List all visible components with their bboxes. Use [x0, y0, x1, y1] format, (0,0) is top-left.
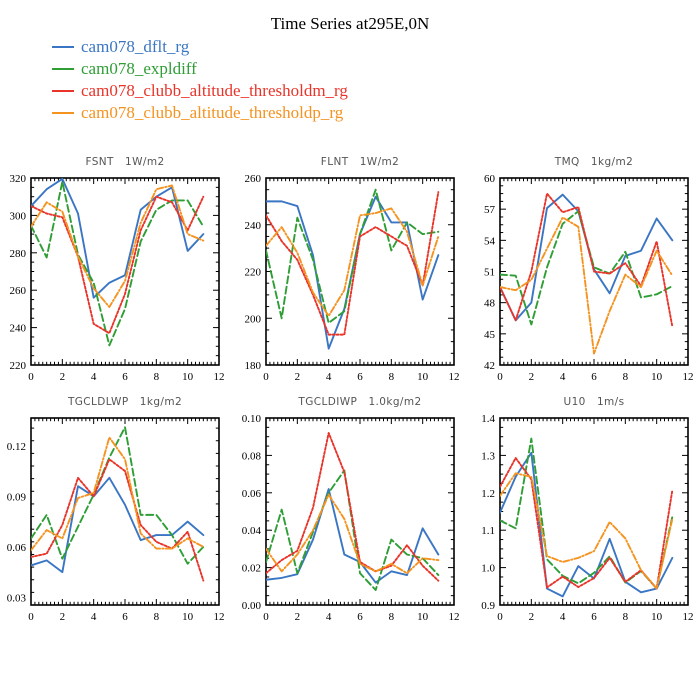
series-line: [31, 459, 203, 580]
x-tick-label: 2: [60, 371, 66, 383]
y-tick-label: 1.2: [481, 488, 495, 500]
x-tick-label: 6: [122, 611, 128, 623]
y-tick-label: 1.3: [481, 450, 495, 462]
x-tick-label: 10: [651, 371, 663, 383]
x-tick-label: 2: [529, 371, 535, 383]
y-tick-label: 45: [484, 329, 496, 341]
x-tick-label: 2: [60, 611, 66, 623]
y-tick-label: 320: [10, 173, 27, 185]
x-tick-label: 0: [497, 611, 503, 623]
chart-panel-tgcldlwp: 0246810120.030.060.090.12: [7, 418, 225, 623]
series-line: [266, 470, 438, 590]
x-tick-label: 12: [449, 611, 460, 623]
y-tick-label: 42: [484, 360, 495, 372]
y-tick-label: 260: [245, 173, 262, 185]
x-tick-label: 8: [154, 611, 160, 623]
panel-title-u10: U10 1m/s: [500, 396, 688, 408]
x-tick-label: 12: [449, 371, 460, 383]
y-tick-label: 57: [484, 204, 496, 216]
series-line: [266, 489, 438, 583]
x-tick-label: 8: [389, 371, 395, 383]
x-tick-label: 6: [357, 371, 363, 383]
panel-title-fsnt: FSNT 1W/m2: [31, 156, 219, 168]
panel-title-tgcldlwp: TGCLDLWP 1kg/m2: [31, 396, 219, 408]
x-tick-label: 0: [497, 371, 503, 383]
y-tick-label: 0.10: [242, 413, 262, 425]
x-tick-label: 6: [591, 611, 597, 623]
y-tick-label: 220: [245, 267, 262, 279]
series-line: [500, 453, 672, 597]
x-tick-label: 6: [357, 611, 363, 623]
chart-panel-u10: 0246810120.91.01.11.21.31.4: [481, 413, 693, 623]
panel-title-tgcldiwp: TGCLDIWP 1.0kg/m2: [266, 396, 454, 408]
chart-panel-tmq: 02468101242454851545760: [484, 173, 694, 383]
y-tick-label: 0.12: [7, 441, 26, 453]
y-tick-label: 280: [10, 248, 27, 260]
x-tick-label: 0: [28, 371, 34, 383]
x-tick-label: 4: [560, 611, 566, 623]
x-tick-label: 4: [91, 371, 97, 383]
x-tick-label: 8: [623, 611, 629, 623]
x-tick-label: 4: [560, 371, 566, 383]
x-tick-label: 10: [182, 611, 194, 623]
x-tick-label: 8: [389, 611, 395, 623]
y-tick-label: 0.03: [7, 592, 27, 604]
plot-canvas: 0246810122202402602803003200246810121802…: [0, 0, 700, 700]
y-tick-label: 0.04: [242, 525, 262, 537]
panel-title-flnt: FLNT 1W/m2: [266, 156, 454, 168]
x-tick-label: 8: [154, 371, 160, 383]
y-tick-label: 54: [484, 235, 496, 247]
y-tick-label: 48: [484, 298, 496, 310]
y-tick-label: 300: [10, 210, 27, 222]
y-tick-label: 0.02: [242, 563, 261, 575]
y-tick-label: 200: [245, 313, 262, 325]
series-line: [500, 211, 672, 324]
series-line: [500, 458, 672, 589]
x-tick-label: 0: [28, 611, 34, 623]
y-tick-label: 260: [10, 285, 27, 297]
series-line: [31, 197, 203, 334]
x-tick-label: 2: [295, 371, 301, 383]
x-tick-label: 0: [263, 611, 269, 623]
x-tick-label: 12: [683, 611, 694, 623]
y-tick-label: 240: [10, 323, 27, 335]
x-tick-label: 10: [417, 371, 429, 383]
series-line: [31, 478, 203, 572]
y-tick-label: 0.09: [7, 491, 27, 503]
x-tick-label: 8: [623, 371, 629, 383]
y-tick-label: 1.1: [481, 525, 495, 537]
y-tick-label: 0.00: [242, 600, 262, 612]
x-tick-label: 2: [529, 611, 535, 623]
x-tick-label: 12: [214, 611, 225, 623]
plot-frame: [266, 418, 454, 605]
x-tick-label: 0: [263, 371, 269, 383]
plot-frame: [31, 418, 219, 605]
x-tick-label: 10: [182, 371, 194, 383]
panel-title-tmq: TMQ 1kg/m2: [500, 156, 688, 168]
series-line: [31, 179, 203, 298]
y-tick-label: 220: [10, 360, 27, 372]
y-tick-label: 0.06: [242, 488, 262, 500]
chart-panel-flnt: 024681012180200220240260: [245, 173, 460, 383]
y-tick-label: 60: [484, 173, 496, 185]
chart-panel-fsnt: 024681012220240260280300320: [10, 173, 225, 383]
series-line: [500, 195, 672, 321]
y-tick-label: 1.0: [481, 563, 495, 575]
x-tick-label: 12: [683, 371, 694, 383]
series-line: [266, 192, 438, 335]
x-tick-label: 4: [91, 611, 97, 623]
x-tick-label: 12: [214, 371, 225, 383]
y-tick-label: 180: [245, 360, 262, 372]
y-tick-label: 1.4: [481, 413, 495, 425]
x-tick-label: 4: [326, 371, 332, 383]
y-tick-label: 0.06: [7, 542, 27, 554]
y-tick-label: 51: [484, 267, 495, 279]
x-tick-label: 6: [122, 371, 128, 383]
chart-panel-tgcldiwp: 0246810120.000.020.040.060.080.10: [242, 413, 460, 623]
x-tick-label: 6: [591, 371, 597, 383]
y-tick-label: 0.08: [242, 450, 262, 462]
y-tick-label: 240: [245, 220, 262, 232]
figure-root: Time Series at295E,0N cam078_dflt_rgcam0…: [0, 0, 700, 700]
x-tick-label: 10: [417, 611, 429, 623]
x-tick-label: 4: [326, 611, 332, 623]
y-tick-label: 0.9: [481, 600, 495, 612]
x-tick-label: 10: [651, 611, 663, 623]
series-line: [266, 208, 438, 316]
x-tick-label: 2: [295, 611, 301, 623]
